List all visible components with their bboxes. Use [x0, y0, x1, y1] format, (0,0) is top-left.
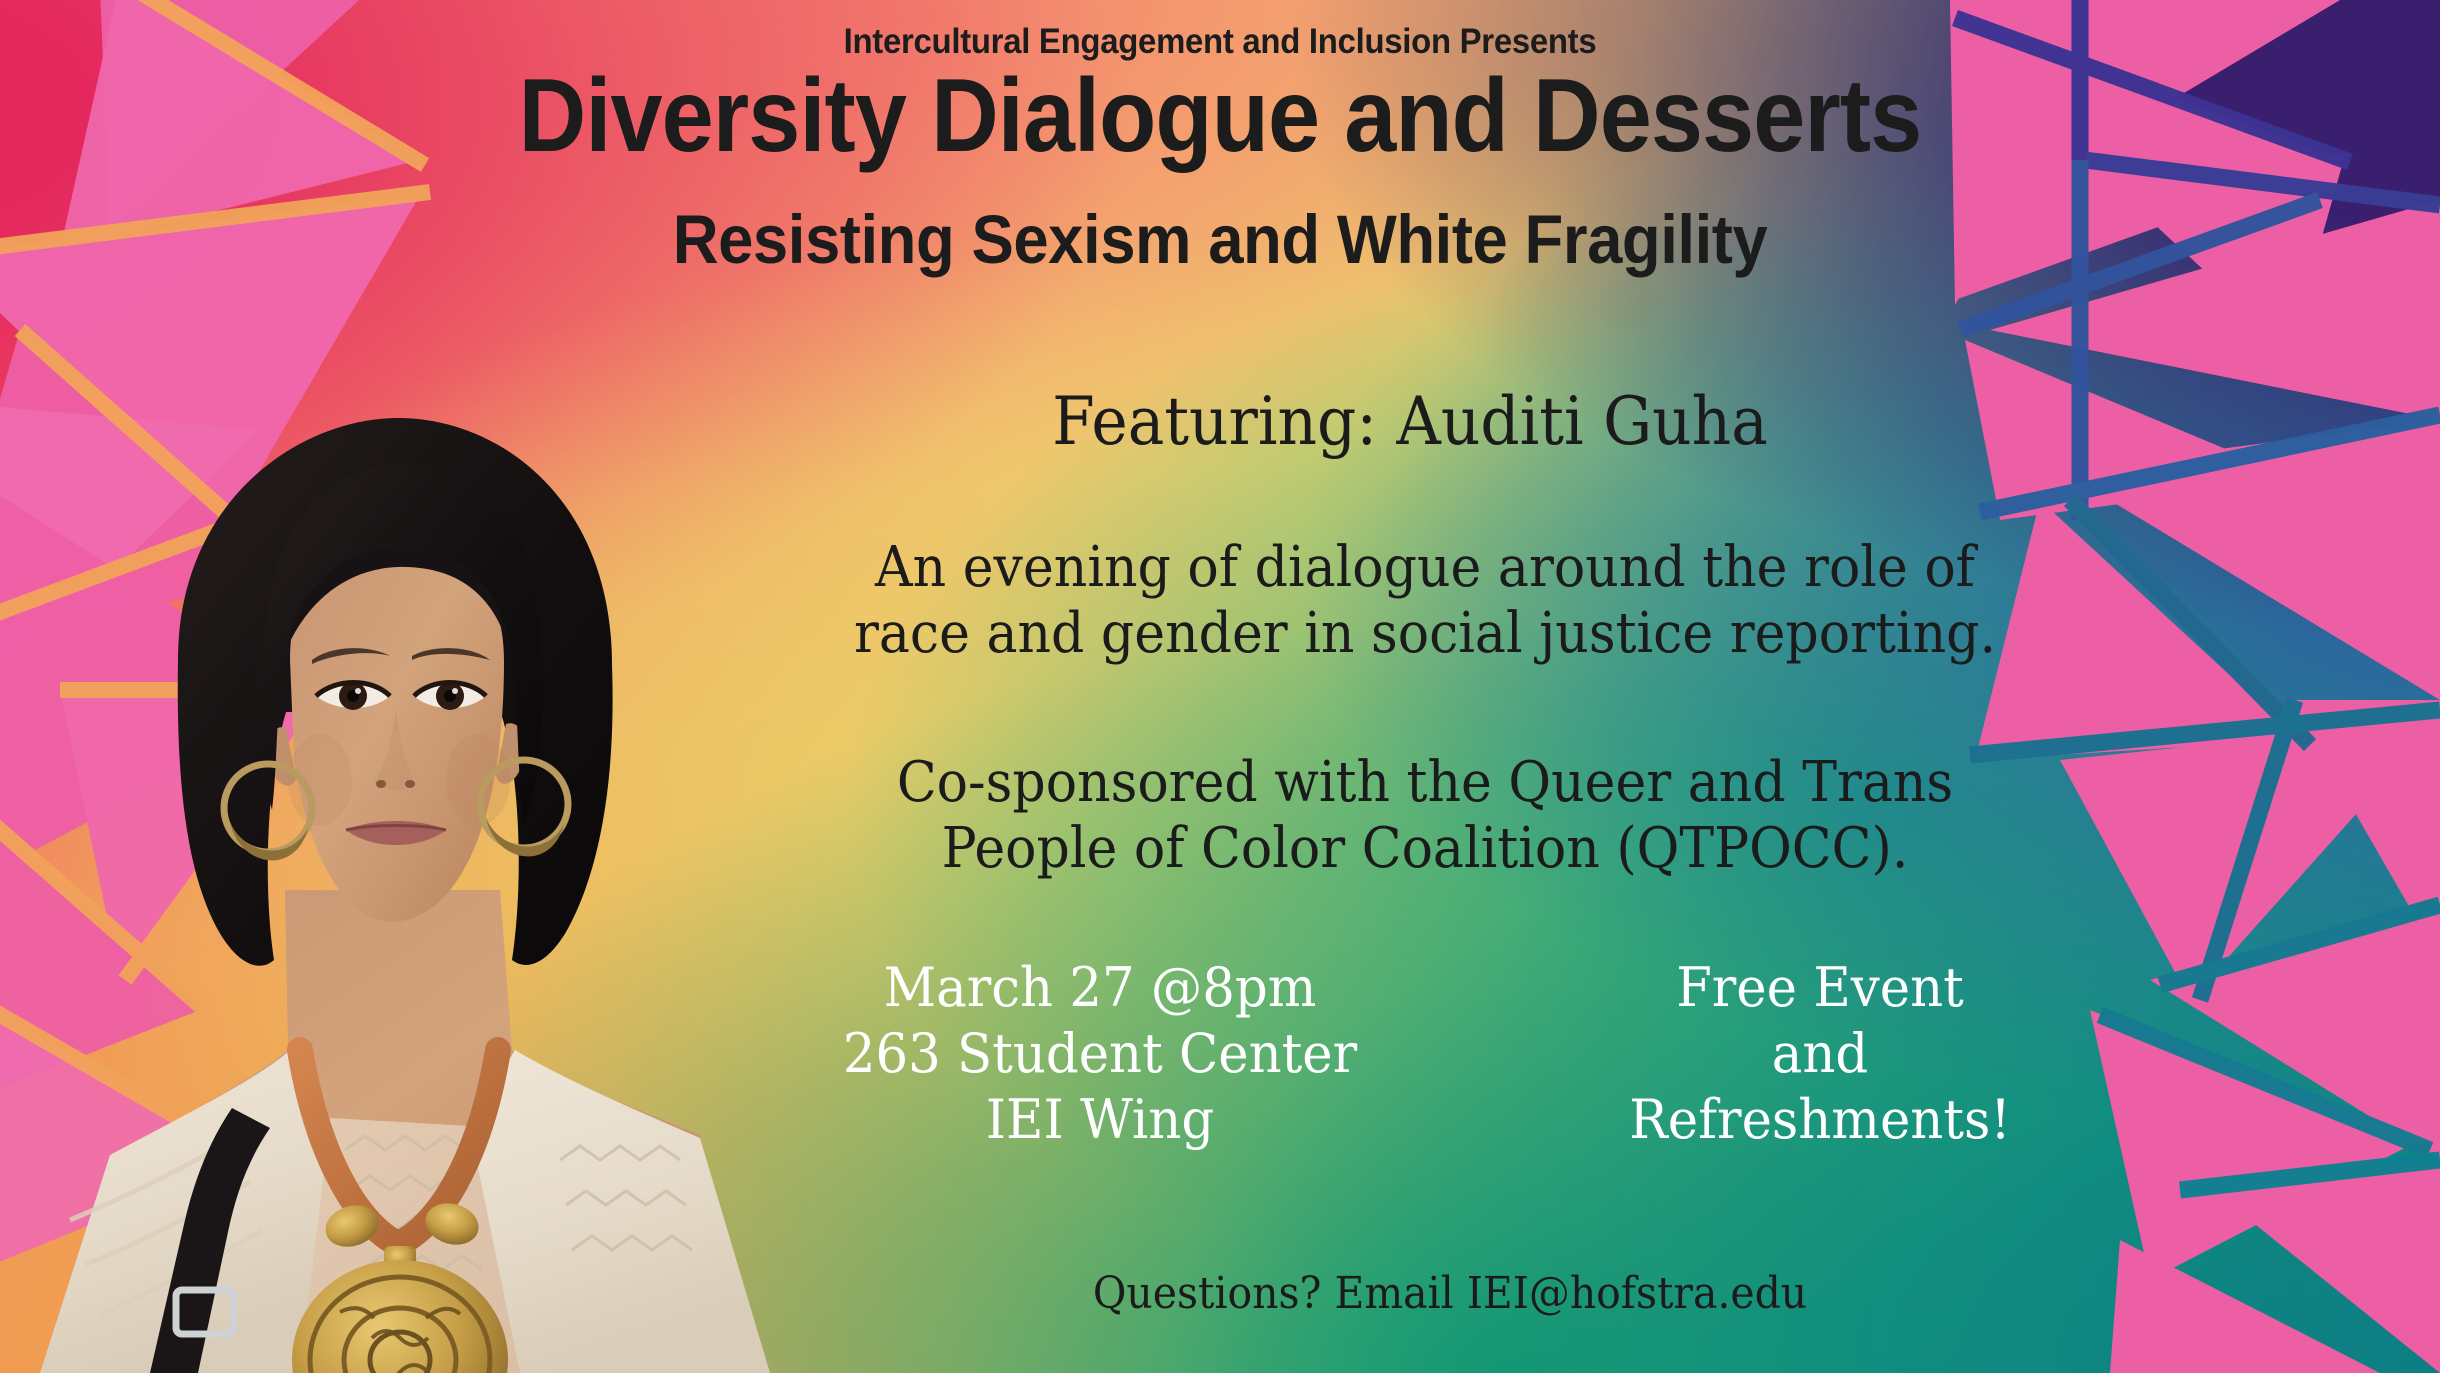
- event-details-cost: Free Event and Refreshments!: [1516, 955, 2124, 1153]
- event-wing: IEI Wing: [758, 1087, 1442, 1153]
- description-line-1: An evening of dialogue around the role o…: [741, 535, 2108, 601]
- page-subtitle: Resisting Sexism and White Fragility: [98, 200, 2343, 279]
- and-conjunction: and: [1516, 1021, 2124, 1087]
- description-paragraph: An evening of dialogue around the role o…: [741, 535, 2108, 666]
- featuring-speaker: Featuring: Auditi Guha: [806, 383, 2015, 460]
- event-details-when-where: March 27 @8pm 263 Student Center IEI Win…: [758, 955, 1442, 1153]
- free-event-label: Free Event: [1516, 955, 2124, 1021]
- description-line-2: race and gender in social justice report…: [741, 601, 2108, 667]
- speaker-portrait: [0, 360, 780, 1373]
- cosponsor-line-2: People of Color Coalition (QTPOCC).: [741, 816, 2108, 882]
- event-poster: Intercultural Engagement and Inclusion P…: [0, 0, 2440, 1373]
- cosponsor-line-1: Co-sponsored with the Queer and Trans: [741, 750, 2108, 816]
- event-datetime: March 27 @8pm: [758, 955, 1442, 1021]
- event-location: 263 Student Center: [758, 1021, 1442, 1087]
- presenter-line: Intercultural Engagement and Inclusion P…: [73, 22, 2367, 62]
- refreshments-label: Refreshments!: [1516, 1087, 2124, 1153]
- cosponsor-paragraph: Co-sponsored with the Queer and Trans Pe…: [741, 750, 2108, 881]
- contact-line: Questions? Email IEI@hofstra.edu: [753, 1268, 2148, 1319]
- page-title: Diversity Dialogue and Desserts: [122, 62, 2318, 170]
